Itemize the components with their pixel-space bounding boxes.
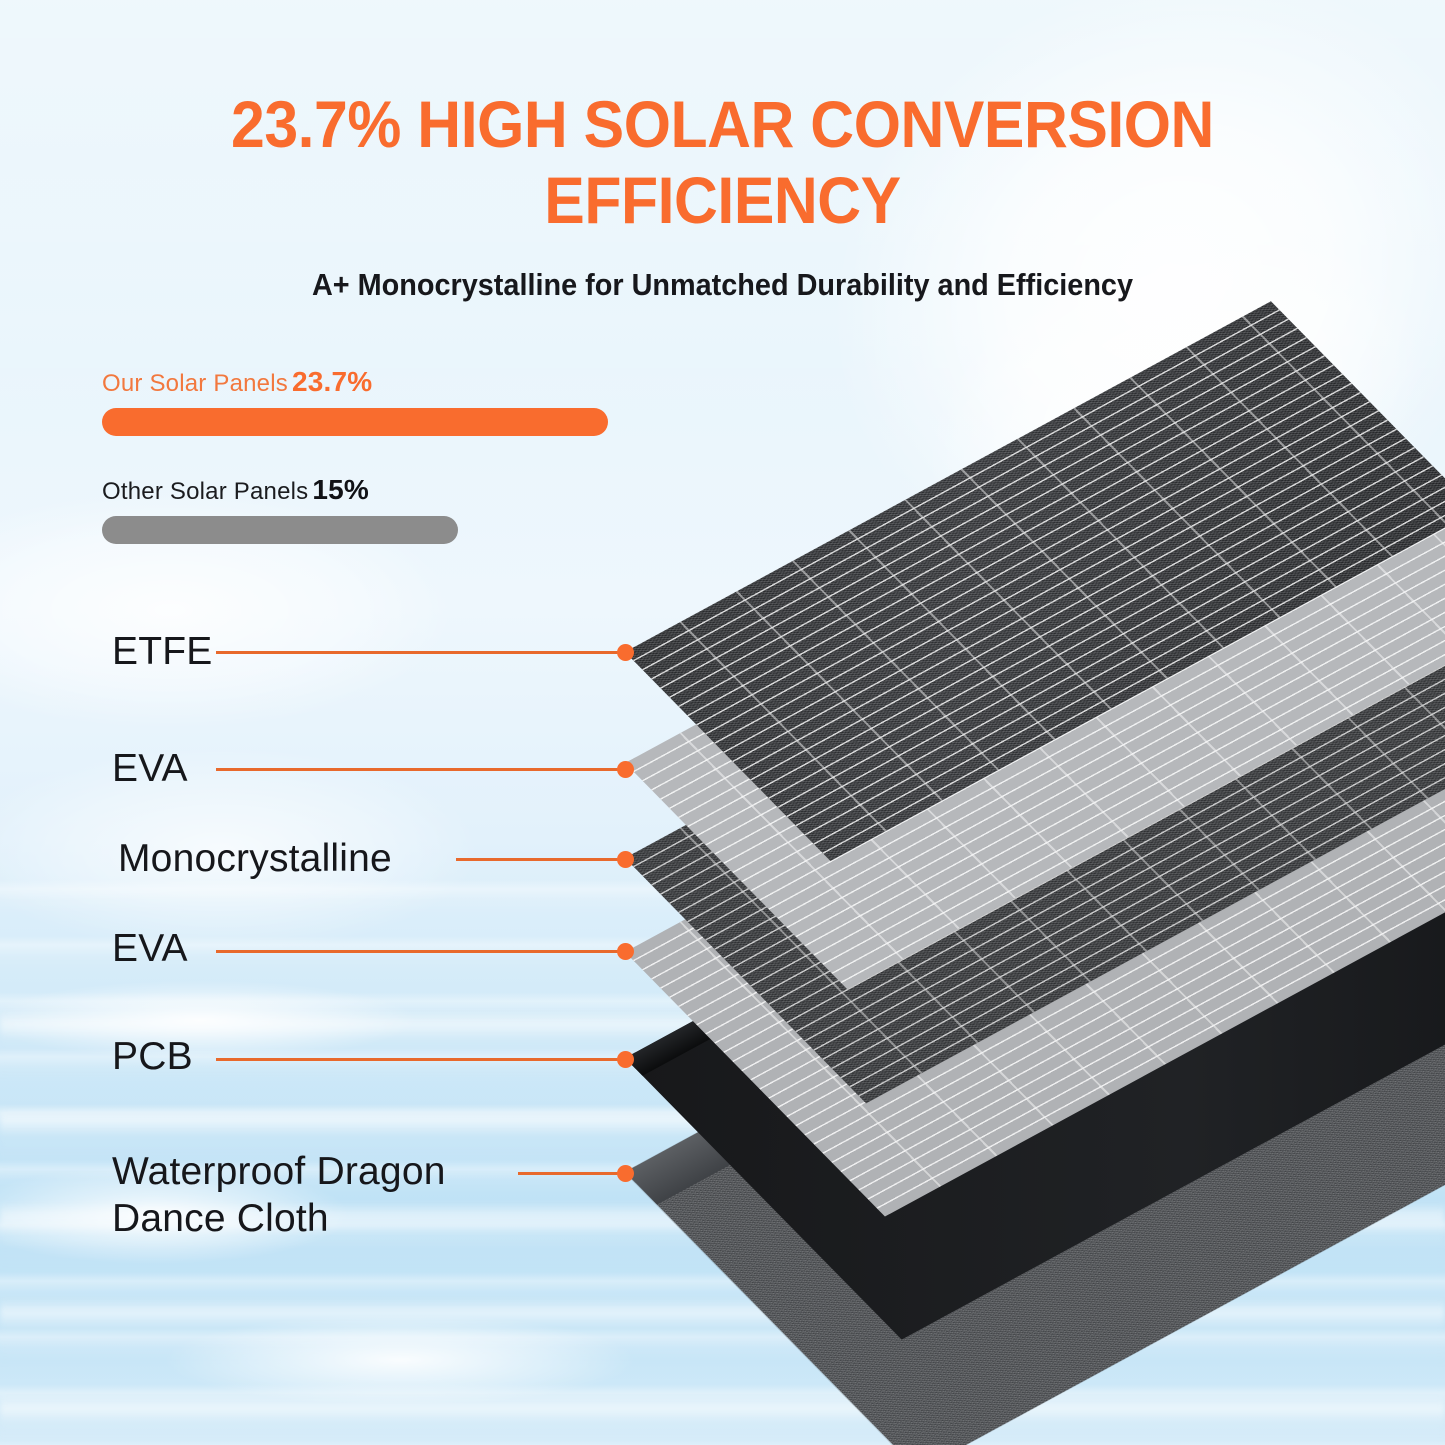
leader-dot-cloth bbox=[617, 1165, 634, 1182]
layer-label-eva-top: EVA bbox=[112, 745, 188, 792]
infographic-canvas: 23.7% HIGH SOLAR CONVERSION EFFICIENCY A… bbox=[0, 0, 1445, 1445]
layer-label-cloth: Waterproof Dragon Dance Cloth bbox=[112, 1148, 446, 1242]
layer-callouts: ETFE EVA Monocrystalline EVA PCB Waterpr… bbox=[0, 0, 1445, 1445]
leader-dot-eva-bottom bbox=[617, 943, 634, 960]
leader-line-cloth bbox=[518, 1172, 626, 1175]
leader-dot-pcb bbox=[617, 1051, 634, 1068]
leader-line-monocrystalline bbox=[456, 858, 626, 861]
layer-label-etfe: ETFE bbox=[112, 628, 212, 675]
leader-dot-monocrystalline bbox=[617, 851, 634, 868]
layer-label-pcb: PCB bbox=[112, 1033, 193, 1080]
leader-line-eva-top bbox=[216, 768, 626, 771]
leader-dot-eva-top bbox=[617, 761, 634, 778]
leader-dot-etfe bbox=[617, 644, 634, 661]
leader-line-etfe bbox=[216, 651, 626, 654]
layer-label-eva-bottom: EVA bbox=[112, 925, 188, 972]
layer-label-monocrystalline: Monocrystalline bbox=[118, 835, 392, 882]
leader-line-eva-bottom bbox=[216, 950, 626, 953]
leader-line-pcb bbox=[216, 1058, 626, 1061]
